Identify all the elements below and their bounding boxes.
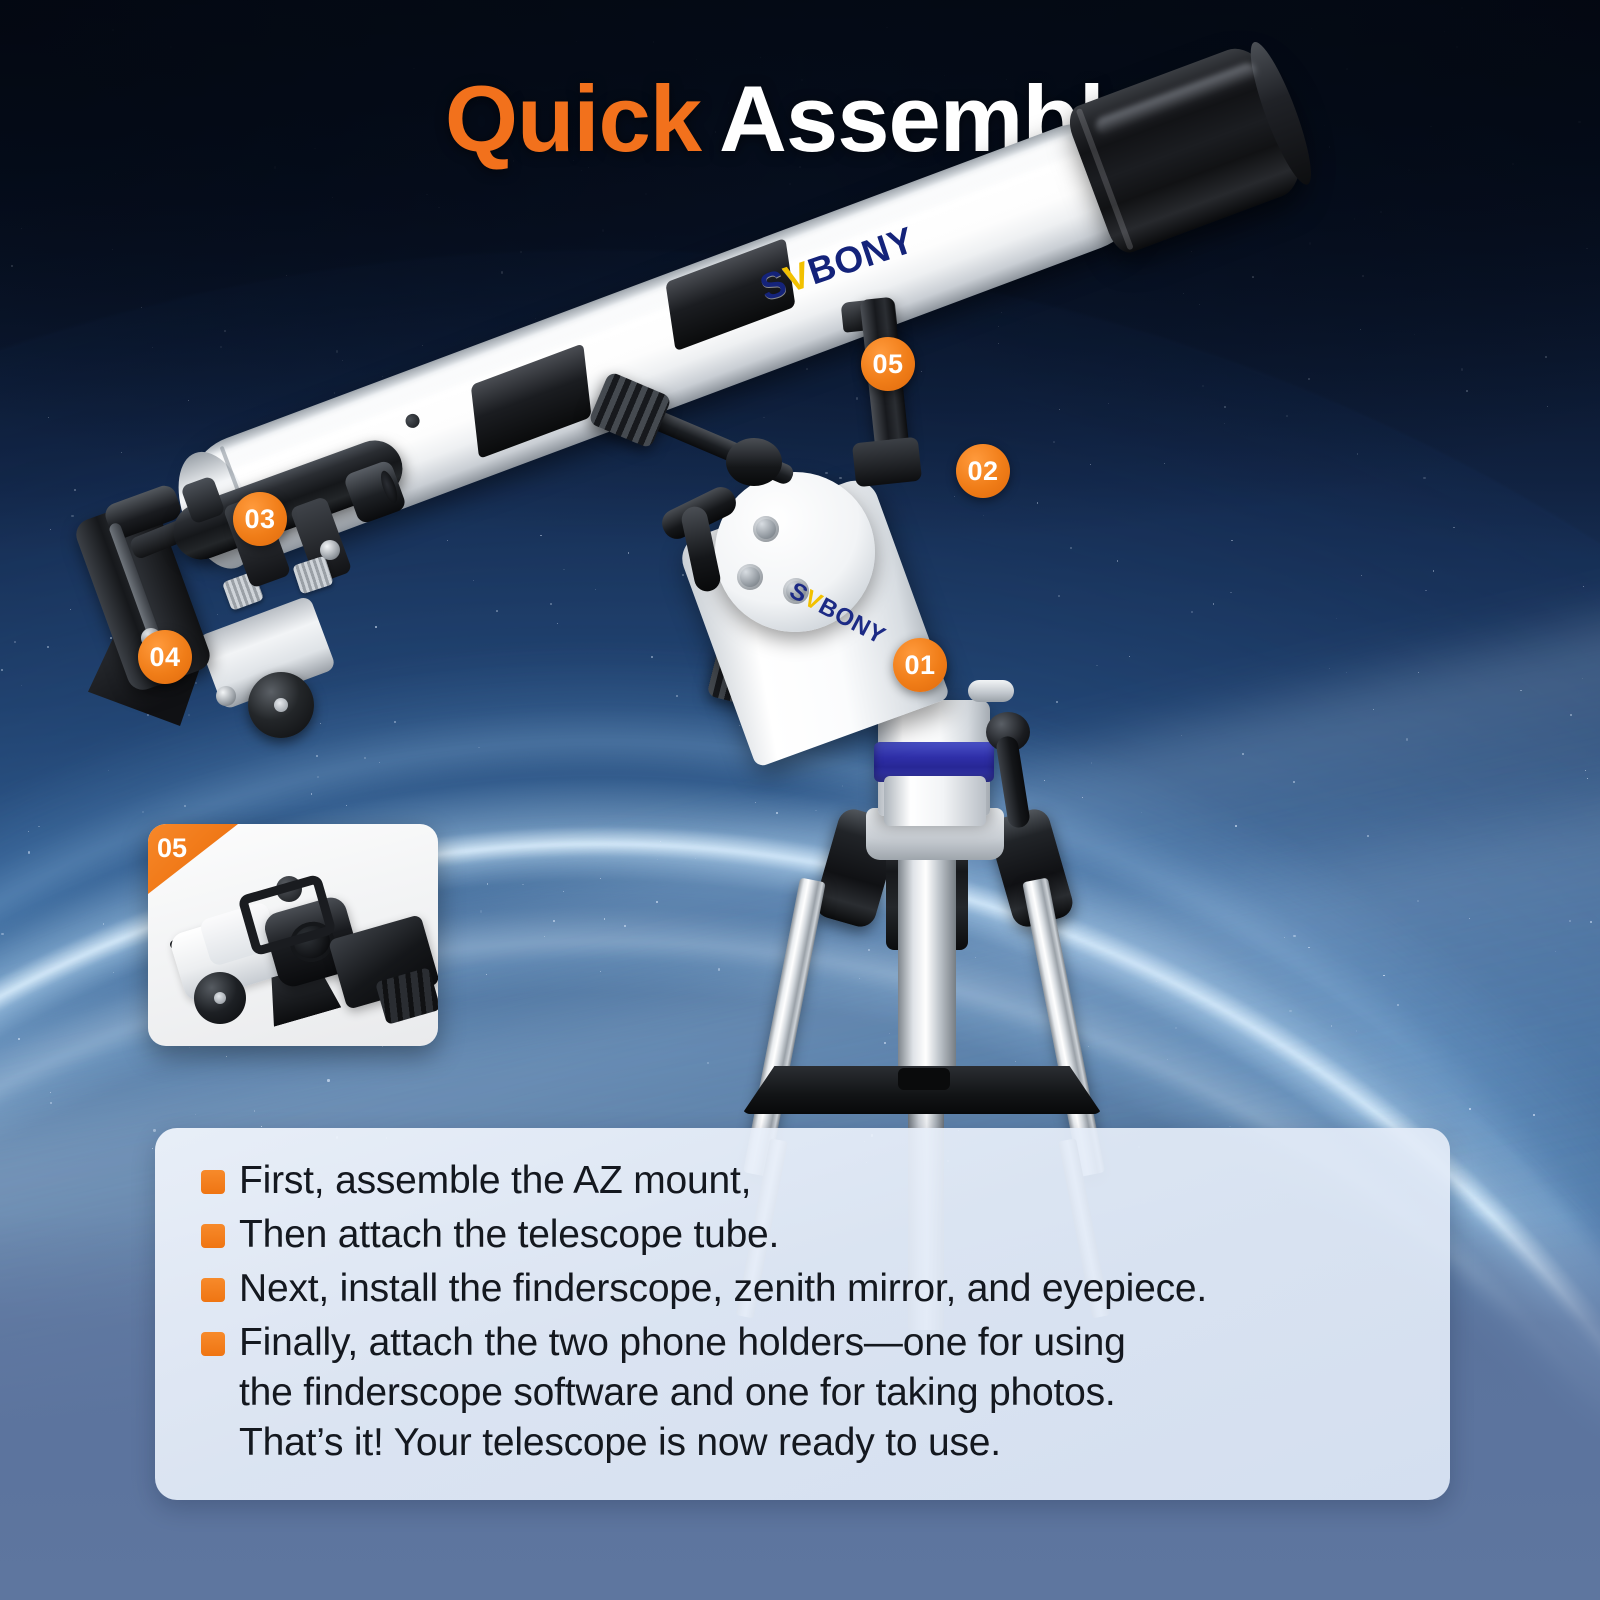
az-mount-arm: SVBONY (775, 520, 971, 770)
az-mount-lower-base (884, 776, 986, 826)
step-row-2: Then attach the telescope tube. (201, 1210, 1416, 1260)
callout-badge-03[interactable]: 03 (233, 492, 287, 546)
inset-badge-label: 05 (157, 833, 187, 864)
finderscope-adjust-screw (320, 540, 340, 560)
bullet-square-1 (201, 1170, 225, 1194)
step-text-4-line-2: the finderscope software and one for tak… (239, 1368, 1126, 1418)
assembly-steps-card: First, assemble the AZ mount, Then attac… (155, 1128, 1450, 1500)
callout-badge-02[interactable]: 02 (956, 444, 1010, 498)
step-text-2: Then attach the telescope tube. (239, 1210, 779, 1260)
pivot-bolt-2 (737, 564, 763, 590)
step-text-4-line-3: That’s it! Your telescope is now ready t… (239, 1418, 1126, 1468)
control-rod-coupler (726, 438, 782, 486)
step-row-4: Finally, attach the two phone holders—on… (201, 1318, 1416, 1468)
step-text-4-line-1: Finally, attach the two phone holders—on… (239, 1318, 1126, 1368)
callout-badge-05[interactable]: 05 (861, 337, 915, 391)
bullet-square-2 (201, 1224, 225, 1248)
az-lever-arm (995, 735, 1031, 829)
callout-badge-04[interactable]: 04 (138, 630, 192, 684)
phone-holder-foot (852, 437, 922, 488)
az-lock-lever (986, 712, 1044, 832)
infographic-stage: QuickAssembly (0, 0, 1600, 1600)
pivot-bolt-1 (753, 516, 779, 542)
step-row-3: Next, install the finderscope, zenith mi… (201, 1264, 1416, 1314)
tripod-center-column (898, 856, 956, 1086)
bullet-square-4 (201, 1332, 225, 1356)
step-row-1: First, assemble the AZ mount, (201, 1156, 1416, 1206)
callout-badge-01[interactable]: 01 (893, 638, 947, 692)
accessory-tray-hole (898, 1068, 950, 1090)
step-text-3: Next, install the finderscope, zenith mi… (239, 1264, 1207, 1314)
diagonal-bolt-2 (216, 686, 236, 706)
bullet-square-3 (201, 1278, 225, 1302)
step-text-1: First, assemble the AZ mount, (239, 1156, 751, 1206)
inset-focus-knob (194, 972, 246, 1024)
phone-holder-inset-card[interactable]: 05 (148, 824, 438, 1046)
az-mount-side-pin (968, 680, 1014, 702)
focus-knob (248, 672, 314, 738)
